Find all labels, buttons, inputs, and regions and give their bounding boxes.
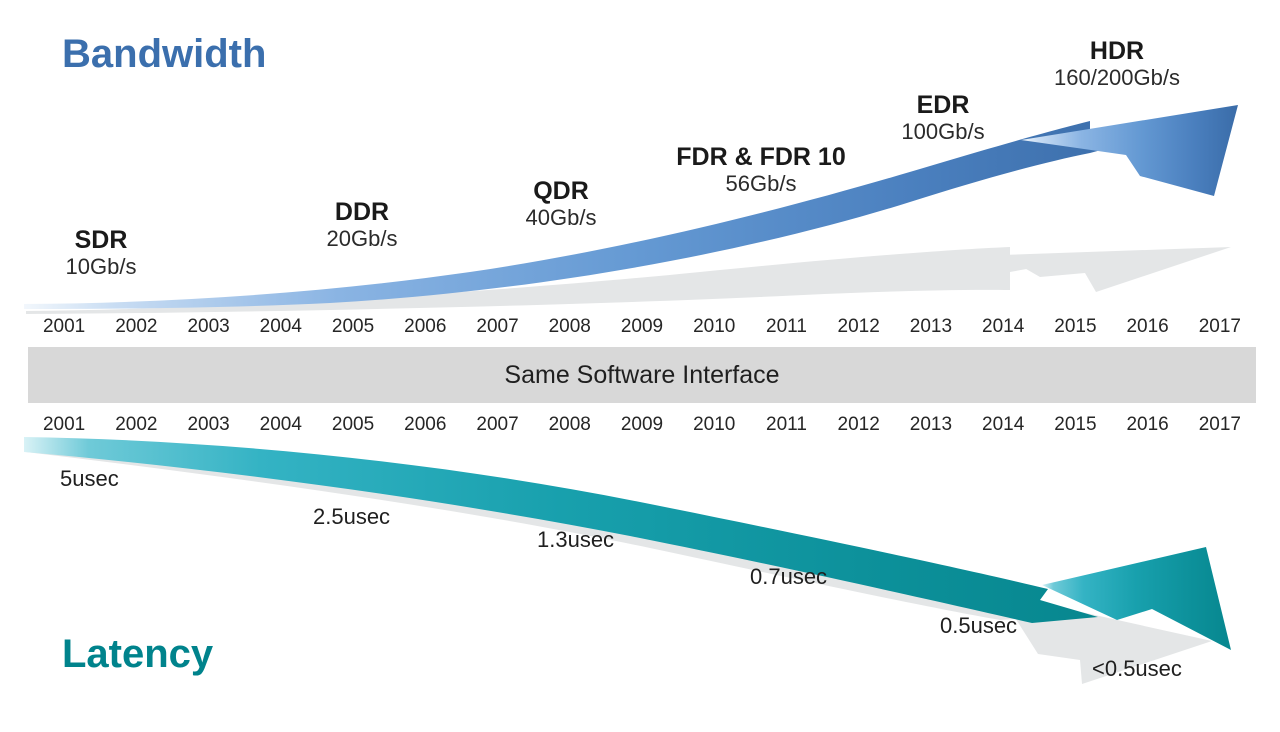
- same-software-interface-band: Same Software Interface: [28, 347, 1256, 403]
- year-tick-2005: 2005: [317, 313, 389, 341]
- generation-name: HDR: [1054, 37, 1180, 65]
- generation-rate: 56Gb/s: [676, 171, 845, 198]
- year-tick-2007: 2007: [461, 411, 533, 439]
- year-tick-2010: 2010: [678, 313, 750, 341]
- latency-value-0-7usec: 0.7usec: [750, 564, 827, 590]
- artboard: Bandwidth SDR 10Gb/s DDR 20Gb/s QDR 40Gb…: [0, 0, 1280, 732]
- bandwidth-title: Bandwidth: [62, 32, 266, 77]
- year-tick-2001: 2001: [28, 411, 100, 439]
- latency-value-1-3usec: 1.3usec: [537, 527, 614, 553]
- generation-rate: 40Gb/s: [526, 205, 597, 232]
- year-tick-2014: 2014: [967, 313, 1039, 341]
- year-tick-2006: 2006: [389, 411, 461, 439]
- generation-name: EDR: [901, 91, 984, 119]
- year-tick-2004: 2004: [245, 313, 317, 341]
- latency-value-5usec: 5usec: [60, 466, 119, 492]
- year-axis-bandwidth: 2001200220032004200520062007200820092010…: [28, 313, 1256, 341]
- year-tick-2016: 2016: [1112, 313, 1184, 341]
- bandwidth-generation-edr: EDR 100Gb/s: [901, 91, 984, 146]
- year-tick-2005: 2005: [317, 411, 389, 439]
- infographic-canvas: Bandwidth SDR 10Gb/s DDR 20Gb/s QDR 40Gb…: [0, 0, 1280, 732]
- year-tick-2008: 2008: [534, 313, 606, 341]
- year-tick-2008: 2008: [534, 411, 606, 439]
- year-tick-2003: 2003: [172, 411, 244, 439]
- generation-rate: 160/200Gb/s: [1054, 65, 1180, 92]
- year-tick-2001: 2001: [28, 313, 100, 341]
- year-tick-2015: 2015: [1039, 313, 1111, 341]
- year-tick-2010: 2010: [678, 411, 750, 439]
- bandwidth-generation-qdr: QDR 40Gb/s: [526, 177, 597, 232]
- year-tick-2016: 2016: [1112, 411, 1184, 439]
- year-tick-2011: 2011: [750, 313, 822, 341]
- year-tick-2002: 2002: [100, 313, 172, 341]
- year-tick-2007: 2007: [461, 313, 533, 341]
- year-tick-2002: 2002: [100, 411, 172, 439]
- year-tick-2006: 2006: [389, 313, 461, 341]
- same-software-interface-label: Same Software Interface: [504, 361, 779, 390]
- year-tick-2015: 2015: [1039, 411, 1111, 439]
- latency-value-2-5usec: 2.5usec: [313, 504, 390, 530]
- year-tick-2017: 2017: [1184, 411, 1256, 439]
- generation-name: SDR: [66, 226, 137, 254]
- generation-name: QDR: [526, 177, 597, 205]
- bandwidth-generation-fdr: FDR & FDR 10 56Gb/s: [676, 143, 845, 198]
- year-tick-2011: 2011: [750, 411, 822, 439]
- year-tick-2013: 2013: [895, 411, 967, 439]
- bandwidth-generation-sdr: SDR 10Gb/s: [66, 226, 137, 281]
- generation-rate: 10Gb/s: [66, 254, 137, 281]
- bandwidth-shadow-arrowhead: [1002, 247, 1231, 292]
- latency-value-under-0-5usec: <0.5usec: [1092, 656, 1182, 682]
- year-tick-2013: 2013: [895, 313, 967, 341]
- generation-rate: 100Gb/s: [901, 119, 984, 146]
- year-tick-2012: 2012: [823, 411, 895, 439]
- year-tick-2004: 2004: [245, 411, 317, 439]
- year-tick-2009: 2009: [606, 411, 678, 439]
- generation-name: DDR: [327, 198, 398, 226]
- year-tick-2012: 2012: [823, 313, 895, 341]
- latency-title: Latency: [62, 632, 213, 677]
- generation-rate: 20Gb/s: [327, 226, 398, 253]
- latency-value-0-5usec: 0.5usec: [940, 613, 1017, 639]
- bandwidth-generation-hdr: HDR 160/200Gb/s: [1054, 37, 1180, 92]
- year-axis-latency: 2001200220032004200520062007200820092010…: [28, 411, 1256, 439]
- bandwidth-generation-ddr: DDR 20Gb/s: [327, 198, 398, 253]
- year-tick-2009: 2009: [606, 313, 678, 341]
- year-tick-2014: 2014: [967, 411, 1039, 439]
- year-tick-2003: 2003: [172, 313, 244, 341]
- year-tick-2017: 2017: [1184, 313, 1256, 341]
- generation-name: FDR & FDR 10: [676, 143, 845, 171]
